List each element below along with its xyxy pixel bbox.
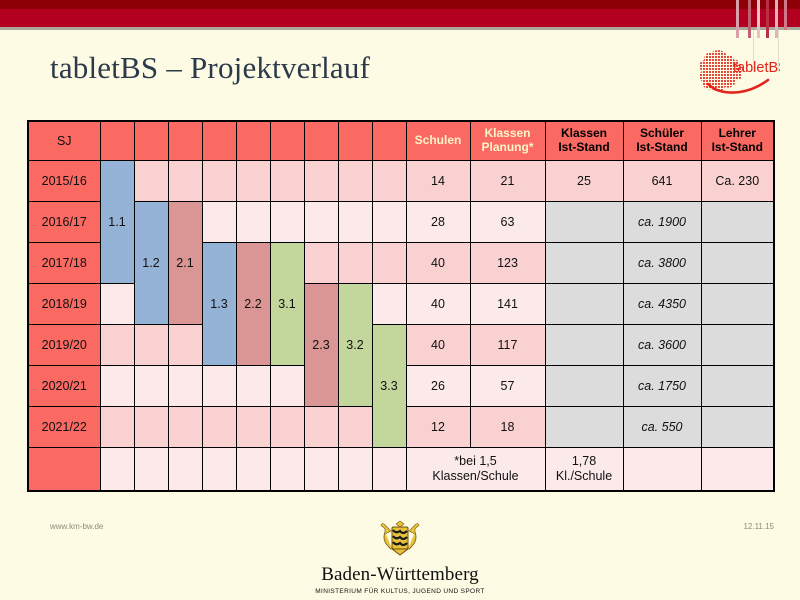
header-lehrer-ist: Lehrer Ist-Stand bbox=[701, 121, 774, 161]
header-klassen-ist: Klassen Ist-Stand bbox=[545, 121, 623, 161]
gantt-cell bbox=[304, 407, 338, 448]
cell-klassen-planung: 18 bbox=[470, 407, 545, 448]
cell-klassen-ist bbox=[545, 202, 623, 243]
cell-schulen: 28 bbox=[406, 202, 470, 243]
cell-klassen-planung: 57 bbox=[470, 366, 545, 407]
header-klassen-planung-line1: Klassen bbox=[471, 127, 545, 141]
footer-crest: Baden-Württemberg MINISTERIUM FÜR KULTUS… bbox=[0, 518, 800, 595]
gantt-cell bbox=[338, 202, 372, 243]
header-gantt-col-2 bbox=[134, 121, 168, 161]
page-title: tabletBS – Projektverlauf bbox=[50, 50, 370, 86]
cell-schulen: 26 bbox=[406, 366, 470, 407]
gantt-cell bbox=[236, 366, 270, 407]
row-year: 2015/16 bbox=[28, 161, 100, 202]
cell-schulen: 40 bbox=[406, 284, 470, 325]
cell-schulen: 40 bbox=[406, 243, 470, 284]
gantt-cell bbox=[236, 448, 270, 491]
header-schueler-ist-line2: Ist-Stand bbox=[624, 141, 701, 155]
gantt-cell bbox=[168, 366, 202, 407]
gantt-cell bbox=[304, 161, 338, 202]
gantt-cell bbox=[270, 161, 304, 202]
cell-schueler-ist: ca. 550 bbox=[623, 407, 701, 448]
gantt-cell bbox=[202, 407, 236, 448]
footnote-planung-note: *bei 1,5 Klassen/Schule bbox=[406, 448, 545, 491]
table-row: 2015/16 1.1 14 21 25 641 Ca. 230 bbox=[28, 161, 774, 202]
tabletbs-logo: tabletBS bbox=[694, 44, 780, 100]
gantt-cell bbox=[270, 448, 304, 491]
cell-schulen: 12 bbox=[406, 407, 470, 448]
header-gantt-col-1 bbox=[100, 121, 134, 161]
top-accent-band bbox=[0, 0, 800, 32]
cell-klassen-ist bbox=[545, 243, 623, 284]
footnote-line1: *bei 1,5 bbox=[407, 454, 545, 469]
row-year: 2016/17 bbox=[28, 202, 100, 243]
crest-subtitle: MINISTERIUM FÜR KULTUS, JUGEND UND SPORT bbox=[0, 588, 800, 595]
gantt-cell bbox=[372, 161, 406, 202]
cell-klassen-planung: 117 bbox=[470, 325, 545, 366]
gantt-cell bbox=[338, 161, 372, 202]
header-schulen-label: Schulen bbox=[407, 134, 470, 148]
cell-schueler-ist: ca. 1750 bbox=[623, 366, 701, 407]
corner-stripe-3 bbox=[757, 0, 760, 38]
gantt-cell bbox=[372, 448, 406, 491]
gantt-cell bbox=[236, 407, 270, 448]
gantt-bar-1-2: 1.2 bbox=[134, 202, 168, 325]
header-gantt-col-8 bbox=[338, 121, 372, 161]
footnote-ratio: 1,78 Kl./Schule bbox=[545, 448, 623, 491]
gantt-cell bbox=[304, 243, 338, 284]
gantt-cell bbox=[270, 202, 304, 243]
gantt-cell bbox=[236, 202, 270, 243]
crest-title: Baden-Württemberg bbox=[0, 564, 800, 586]
footnote-empty-lehrer bbox=[701, 448, 774, 491]
header-klassen-ist-line2: Ist-Stand bbox=[546, 141, 623, 155]
gantt-bar-3-3: 3.3 bbox=[372, 325, 406, 448]
gantt-cell bbox=[100, 366, 134, 407]
cell-klassen-planung: 63 bbox=[470, 202, 545, 243]
logo-wordmark: tabletBS bbox=[733, 60, 780, 76]
row-year: 2018/19 bbox=[28, 284, 100, 325]
cell-klassen-ist bbox=[545, 325, 623, 366]
gantt-cell bbox=[372, 243, 406, 284]
cell-klassen-planung: 141 bbox=[470, 284, 545, 325]
cell-klassen-ist bbox=[545, 284, 623, 325]
gantt-bar-3-2: 3.2 bbox=[338, 284, 372, 407]
gantt-cell bbox=[372, 202, 406, 243]
gantt-cell bbox=[202, 161, 236, 202]
corner-stripe-2 bbox=[748, 0, 751, 38]
footnote-year-spacer bbox=[28, 448, 100, 491]
accent-bar-grey bbox=[0, 27, 800, 30]
gantt-bar-2-1: 2.1 bbox=[168, 202, 202, 325]
table-header-row: SJ Schulen Klassen Planung* Klassen Ist-… bbox=[28, 121, 774, 161]
gantt-cell bbox=[236, 161, 270, 202]
gantt-cell bbox=[338, 243, 372, 284]
gantt-cell bbox=[134, 325, 168, 366]
gantt-cell bbox=[134, 161, 168, 202]
gantt-cell bbox=[168, 325, 202, 366]
gantt-cell bbox=[168, 407, 202, 448]
corner-stripe-6 bbox=[784, 0, 787, 30]
table-footnote-row: *bei 1,5 Klassen/Schule 1,78 Kl./Schule bbox=[28, 448, 774, 491]
gantt-cell bbox=[270, 407, 304, 448]
footnote-empty-schueler bbox=[623, 448, 701, 491]
cell-lehrer-ist bbox=[701, 325, 774, 366]
gantt-cell bbox=[134, 407, 168, 448]
cell-schueler-ist: ca. 3600 bbox=[623, 325, 701, 366]
gantt-bar-2-3: 2.3 bbox=[304, 284, 338, 407]
header-schueler-ist: Schüler Ist-Stand bbox=[623, 121, 701, 161]
gantt-cell bbox=[202, 366, 236, 407]
cell-klassen-ist: 25 bbox=[545, 161, 623, 202]
gantt-cell bbox=[100, 284, 134, 325]
cell-klassen-ist bbox=[545, 366, 623, 407]
header-sj: SJ bbox=[28, 121, 100, 161]
table-row: 2019/20 3.3 40 117 ca. 3600 bbox=[28, 325, 774, 366]
table-row: 2016/17 1.2 2.1 28 63 ca. 1900 bbox=[28, 202, 774, 243]
corner-stripe-4 bbox=[766, 0, 769, 38]
header-schulen: Schulen bbox=[406, 121, 470, 161]
gantt-bar-3-1: 3.1 bbox=[270, 243, 304, 366]
row-year: 2019/20 bbox=[28, 325, 100, 366]
cell-lehrer-ist bbox=[701, 366, 774, 407]
gantt-cell bbox=[338, 448, 372, 491]
tabletbs-logo-icon: tabletBS bbox=[694, 44, 780, 100]
cell-klassen-planung: 21 bbox=[470, 161, 545, 202]
gantt-cell bbox=[338, 407, 372, 448]
footnote-ratio-line2: Kl./Schule bbox=[546, 469, 623, 484]
gantt-cell bbox=[100, 407, 134, 448]
corner-stripe-1 bbox=[736, 0, 739, 38]
cell-lehrer-ist: Ca. 230 bbox=[701, 161, 774, 202]
baden-wuerttemberg-crest-icon bbox=[370, 518, 430, 558]
cell-klassen-planung: 123 bbox=[470, 243, 545, 284]
gantt-cell bbox=[168, 161, 202, 202]
gantt-cell bbox=[304, 448, 338, 491]
footnote-line2: Klassen/Schule bbox=[407, 469, 545, 484]
gantt-bar-1-1: 1.1 bbox=[100, 161, 134, 284]
gantt-bar-1-3: 1.3 bbox=[202, 243, 236, 366]
gantt-cell bbox=[134, 366, 168, 407]
row-year: 2021/22 bbox=[28, 407, 100, 448]
cell-klassen-ist bbox=[545, 407, 623, 448]
cell-schueler-ist: ca. 1900 bbox=[623, 202, 701, 243]
header-gantt-col-6 bbox=[270, 121, 304, 161]
header-gantt-col-9 bbox=[372, 121, 406, 161]
header-schueler-ist-line1: Schüler bbox=[624, 127, 701, 141]
project-timeline-table: SJ Schulen Klassen Planung* Klassen Ist-… bbox=[27, 120, 775, 492]
accent-bar-main bbox=[0, 9, 800, 27]
gantt-cell bbox=[202, 448, 236, 491]
header-gantt-col-3 bbox=[168, 121, 202, 161]
cell-schueler-ist: ca. 4350 bbox=[623, 284, 701, 325]
cell-lehrer-ist bbox=[701, 407, 774, 448]
gantt-cell bbox=[202, 202, 236, 243]
gantt-cell bbox=[134, 448, 168, 491]
cell-schueler-ist: ca. 3800 bbox=[623, 243, 701, 284]
row-year: 2020/21 bbox=[28, 366, 100, 407]
header-lehrer-ist-line1: Lehrer bbox=[702, 127, 774, 141]
cell-schulen: 14 bbox=[406, 161, 470, 202]
header-klassen-planung-line2: Planung* bbox=[471, 141, 545, 155]
row-year: 2017/18 bbox=[28, 243, 100, 284]
footnote-ratio-line1: 1,78 bbox=[546, 454, 623, 469]
cell-schulen: 40 bbox=[406, 325, 470, 366]
header-klassen-ist-line1: Klassen bbox=[546, 127, 623, 141]
gantt-cell bbox=[168, 448, 202, 491]
accent-bar-dark bbox=[0, 0, 800, 9]
cell-schueler-ist: 641 bbox=[623, 161, 701, 202]
header-gantt-col-4 bbox=[202, 121, 236, 161]
header-lehrer-ist-line2: Ist-Stand bbox=[702, 141, 774, 155]
gantt-bar-2-2: 2.2 bbox=[236, 243, 270, 366]
gantt-cell bbox=[100, 325, 134, 366]
header-klassen-planung: Klassen Planung* bbox=[470, 121, 545, 161]
cell-lehrer-ist bbox=[701, 243, 774, 284]
header-gantt-col-5 bbox=[236, 121, 270, 161]
header-gantt-col-7 bbox=[304, 121, 338, 161]
cell-lehrer-ist bbox=[701, 202, 774, 243]
gantt-cell bbox=[372, 284, 406, 325]
gantt-cell bbox=[270, 366, 304, 407]
gantt-cell bbox=[100, 448, 134, 491]
gantt-cell bbox=[304, 202, 338, 243]
cell-lehrer-ist bbox=[701, 284, 774, 325]
